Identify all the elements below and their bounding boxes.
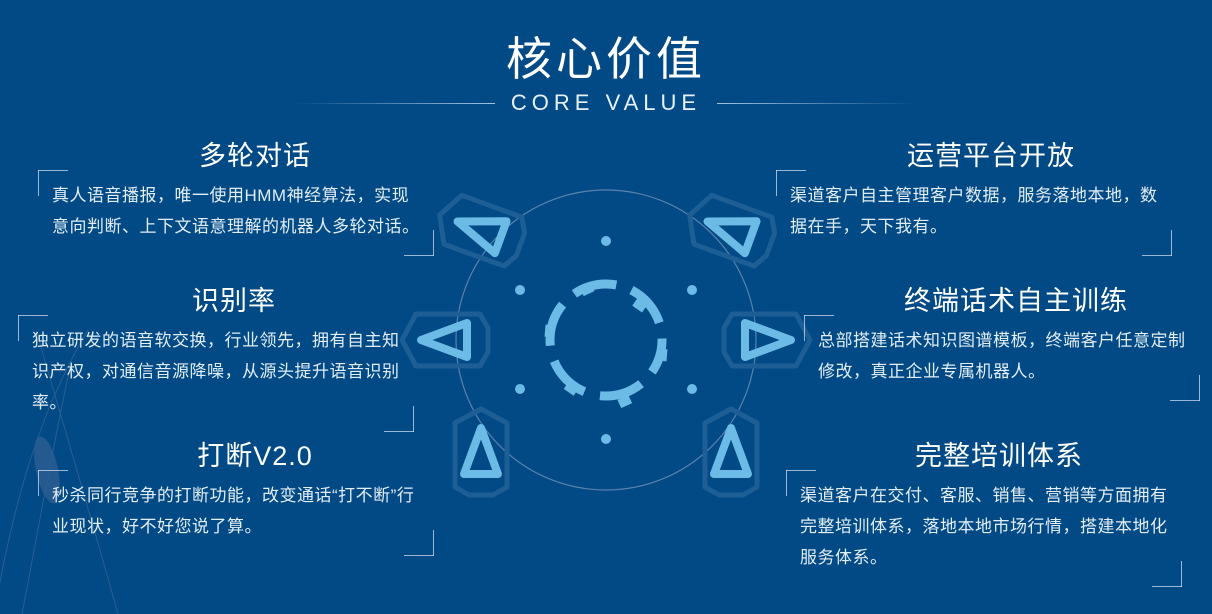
feature-body: 渠道客户自主管理客户数据，服务落地本地，数据在手，天下我有。	[790, 180, 1162, 242]
feature-body-wrap: 真人语音播报，唯一使用HMM神经算法，实现意向判断、上下文语意理解的机器人多轮对…	[52, 180, 424, 242]
infographic-canvas: 核心价值 CORE VALUE	[0, 0, 1212, 614]
feature-body-wrap: 总部搭建话术知识图谱模板，终端客户任意定制修改，真正企业专属机器人。	[818, 325, 1190, 387]
feature-body: 总部搭建话术知识图谱模板，终端客户任意定制修改，真正企业专属机器人。	[818, 325, 1190, 387]
page-subtitle: CORE VALUE	[495, 90, 717, 116]
core-value-diagram	[383, 155, 829, 525]
inner-dashed-ring	[550, 284, 662, 396]
header-rule-right	[717, 103, 917, 104]
feature-block-interrupt-v2: 打断V2.0 秒杀同行竞争的打断功能，改变通话“打不断”行业现状，好不好您说了算…	[52, 438, 424, 542]
feature-body-wrap: 秒杀同行竞争的打断功能，改变通话“打不断”行业现状，好不好您说了算。	[52, 480, 424, 542]
feature-body: 秒杀同行竞争的打断功能，改变通话“打不断”行业现状，好不好您说了算。	[52, 480, 424, 542]
feature-title: 终端话术自主训练	[818, 283, 1190, 319]
orbit-dots	[515, 236, 697, 444]
feature-body: 渠道客户在交付、客服、销售、营销等方面拥有完整培训体系，落地本地市场行情，搭建本…	[800, 480, 1172, 573]
arrow-icon-left	[402, 314, 488, 366]
arrow-icon-up-right	[681, 191, 780, 269]
feature-title: 运营平台开放	[790, 138, 1162, 174]
feature-block-terminal-script-training: 终端话术自主训练 总部搭建话术知识图谱模板，终端客户任意定制修改，真正企业专属机…	[818, 283, 1190, 387]
feature-title: 多轮对话	[52, 138, 424, 174]
feature-body-wrap: 渠道客户在交付、客服、销售、营销等方面拥有完整培训体系，落地本地市场行情，搭建本…	[800, 480, 1172, 573]
page-title: 核心价值	[506, 30, 706, 88]
feature-title: 打断V2.0	[52, 438, 424, 474]
feature-title: 完整培训体系	[800, 438, 1172, 474]
header-rule-left	[295, 103, 495, 104]
feature-body-wrap: 独立研发的语音软交换，行业领先，拥有自主知识产权，对通信音源降噪，从源头提升语音…	[32, 325, 404, 418]
feature-body: 独立研发的语音软交换，行业领先，拥有自主知识产权，对通信音源降噪，从源头提升语音…	[32, 325, 404, 418]
page-header: 核心价值 CORE VALUE	[0, 30, 1212, 116]
feature-title: 识别率	[32, 283, 404, 319]
feature-body: 真人语音播报，唯一使用HMM神经算法，实现意向判断、上下文语意理解的机器人多轮对…	[52, 180, 424, 242]
subtitle-row: CORE VALUE	[0, 90, 1212, 116]
arrow-icon-up-left	[431, 191, 530, 269]
feature-block-multi-turn-dialogue: 多轮对话 真人语音播报，唯一使用HMM神经算法，实现意向判断、上下文语意理解的机…	[52, 138, 424, 242]
feature-block-platform-openness: 运营平台开放 渠道客户自主管理客户数据，服务落地本地，数据在手，天下我有。	[790, 138, 1162, 242]
feature-body-wrap: 渠道客户自主管理客户数据，服务落地本地，数据在手，天下我有。	[790, 180, 1162, 242]
feature-block-recognition-rate: 识别率 独立研发的语音软交换，行业领先，拥有自主知识产权，对通信音源降噪，从源头…	[32, 283, 404, 418]
feature-block-complete-training-system: 完整培训体系 渠道客户在交付、客服、销售、营销等方面拥有完整培训体系，落地本地市…	[800, 438, 1172, 573]
arrow-icon-right	[724, 314, 810, 366]
